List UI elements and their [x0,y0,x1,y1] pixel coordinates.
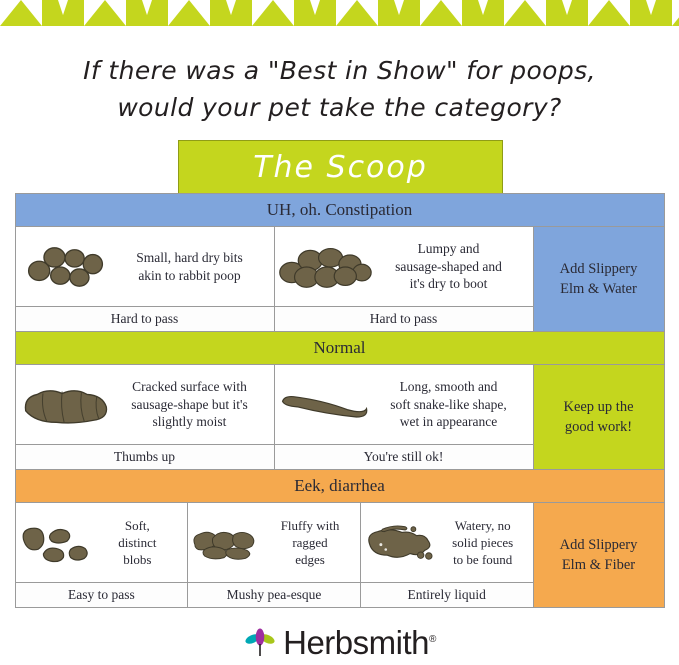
chevron-solid-icon [84,0,126,26]
chevron-open-icon [378,0,420,26]
stool-verdict: Entirely liquid [361,582,533,607]
description-line: edges [268,551,352,568]
section-body-diarrhea: Soft,distinctblobsEasy to pass Fluffy wi… [16,503,664,607]
column-content: Cracked surface withsausage-shape but it… [16,365,274,444]
stool-type-column: Soft,distinctblobsEasy to pass [16,503,189,607]
description-line: Soft, [96,517,180,534]
section-header-diarrhea: Eek, diarrhea [16,470,664,503]
section-body-constipation: Small, hard dry bitsakin to rabbit poopH… [16,227,664,331]
headline-line-2: would your pet take the category? [0,89,679,126]
description-line: distinct [96,534,180,551]
description-line: blobs [96,551,180,568]
stool-verdict: Hard to pass [275,306,533,331]
stool-description: Watery, nosolid piecesto be found [441,517,531,568]
stool-verdict: Hard to pass [16,306,274,331]
column-content: Watery, nosolid piecesto be found [361,503,533,582]
chevron-open-icon [546,0,588,26]
chevron-open-icon [462,0,504,26]
herbsmith-wordmark: Herbsmith® [283,624,436,662]
chevron-shape [126,0,168,26]
stool-verdict: You're still ok! [275,444,533,469]
soft-blobs-icon [18,518,96,568]
chevron-shape [672,0,679,26]
description-line: wet in appearance [373,413,525,431]
lumpy-cluster-icon [277,241,373,293]
description-line: to be found [441,551,525,568]
chevron-open-icon [126,0,168,26]
chevron-shape [0,0,42,26]
advice-text: Add SlipperyElm & Fiber [560,535,638,576]
chevron-shape [210,0,252,26]
advice-line: Elm & Water [560,279,638,299]
herbsmith-leaf-icon [243,626,277,660]
advice-panel-constipation: Add SlipperyElm & Water [534,227,664,331]
chevron-shape [420,0,462,26]
chevron-solid-icon [252,0,294,26]
stool-description: Soft,distinctblobs [96,517,186,568]
section-columns: Cracked surface withsausage-shape but it… [16,365,534,469]
advice-panel-normal: Keep up thegood work! [534,365,664,469]
chevron-shape [42,0,84,26]
description-line: Watery, no [441,517,525,534]
advice-line: Add Slippery [560,535,638,555]
chevron-solid-icon [336,0,378,26]
advice-panel-diarrhea: Add SlipperyElm & Fiber [534,503,664,607]
chevron-solid-icon [672,0,679,26]
description-line: slightly moist [114,413,266,431]
advice-text: Keep up thegood work! [563,397,633,438]
description-line: akin to rabbit poop [114,267,266,285]
chevron-solid-icon [504,0,546,26]
chart-section-diarrhea: Eek, diarrhea Soft,distinctblobsEasy to … [16,470,664,607]
chevron-shape [84,0,126,26]
scoop-banner: The Scoop [178,140,503,193]
description-line: soft snake-like shape, [373,396,525,414]
chart-section-normal: Normal Cracked surface withsausage-shape… [16,332,664,470]
stool-verdict: Mushy pea-esque [188,582,360,607]
section-columns: Small, hard dry bitsakin to rabbit poopH… [16,227,534,331]
chevron-shape [294,0,336,26]
chevron-shape [252,0,294,26]
description-line: sausage-shaped and [373,258,525,276]
section-body-normal: Cracked surface withsausage-shape but it… [16,365,664,469]
description-line: it's dry to boot [373,275,525,293]
stool-type-column: Lumpy andsausage-shaped andit's dry to b… [275,227,534,331]
chevron-shape [504,0,546,26]
chevron-pattern-band [0,0,679,26]
column-content: Long, smooth andsoft snake-like shape,we… [275,365,533,444]
registered-mark: ® [429,634,436,645]
logo-word-text: Herbsmith [283,624,429,661]
advice-line: Add Slippery [560,259,638,279]
stool-type-column: Fluffy withraggededgesMushy pea-esque [188,503,361,607]
description-line: sausage-shape but it's [114,396,266,414]
description-line: Small, hard dry bits [114,249,266,267]
column-content: Soft,distinctblobs [16,503,188,582]
advice-line: Elm & Fiber [560,555,638,575]
advice-line: good work! [563,417,633,437]
watery-splat-icon [363,519,441,567]
scoop-banner-wrap: The Scoop [0,140,679,193]
chevron-solid-icon [0,0,42,26]
chevron-solid-icon [420,0,462,26]
stool-description: Fluffy withraggededges [268,517,358,568]
column-content: Lumpy andsausage-shaped andit's dry to b… [275,227,533,306]
chevron-shape [630,0,672,26]
chevron-shape [546,0,588,26]
description-line: Long, smooth and [373,378,525,396]
section-header-constipation: UH, oh. Constipation [16,194,664,227]
section-header-normal: Normal [16,332,664,365]
stool-type-column: Watery, nosolid piecesto be foundEntirel… [361,503,534,607]
stool-description: Cracked surface withsausage-shape but it… [114,378,272,431]
chevron-shape [378,0,420,26]
stool-type-column: Cracked surface withsausage-shape but it… [16,365,275,469]
pellets-icon [18,239,114,295]
chart-section-constipation: UH, oh. Constipation Small, hard dry bit… [16,194,664,332]
chevron-open-icon [210,0,252,26]
chevron-open-icon [630,0,672,26]
stool-type-column: Small, hard dry bitsakin to rabbit poopH… [16,227,275,331]
advice-line: Keep up the [563,397,633,417]
description-line: solid pieces [441,534,525,551]
description-line: ragged [268,534,352,551]
column-content: Small, hard dry bitsakin to rabbit poop [16,227,274,306]
description-line: Lumpy and [373,240,525,258]
stool-verdict: Easy to pass [16,582,188,607]
headline-line-1: If there was a "Best in Show" for poops, [0,52,679,89]
herbsmith-logo: Herbsmith® [0,624,679,662]
chevron-shape [168,0,210,26]
fluffy-ragged-icon [190,520,268,566]
cracked-log-icon [18,383,114,427]
stool-verdict: Thumbs up [16,444,274,469]
description-line: Cracked surface with [114,378,266,396]
chevron-shape [462,0,504,26]
column-content: Fluffy withraggededges [188,503,360,582]
chevron-open-icon [42,0,84,26]
page-headline: If there was a "Best in Show" for poops,… [0,52,679,126]
smooth-snake-icon [277,387,373,423]
advice-text: Add SlipperyElm & Water [560,259,638,300]
chevron-solid-icon [168,0,210,26]
stool-description: Small, hard dry bitsakin to rabbit poop [114,249,272,285]
chevron-shape [336,0,378,26]
stool-description: Long, smooth andsoft snake-like shape,we… [373,378,531,431]
stool-type-column: Long, smooth andsoft snake-like shape,we… [275,365,534,469]
section-columns: Soft,distinctblobsEasy to pass Fluffy wi… [16,503,534,607]
chevron-shape [588,0,630,26]
description-line: Fluffy with [268,517,352,534]
poop-chart-table: UH, oh. Constipation Small, hard dry bit… [15,193,665,608]
scoop-banner-title: The Scoop [253,150,428,185]
chevron-open-icon [294,0,336,26]
chevron-solid-icon [588,0,630,26]
stool-description: Lumpy andsausage-shaped andit's dry to b… [373,240,531,293]
